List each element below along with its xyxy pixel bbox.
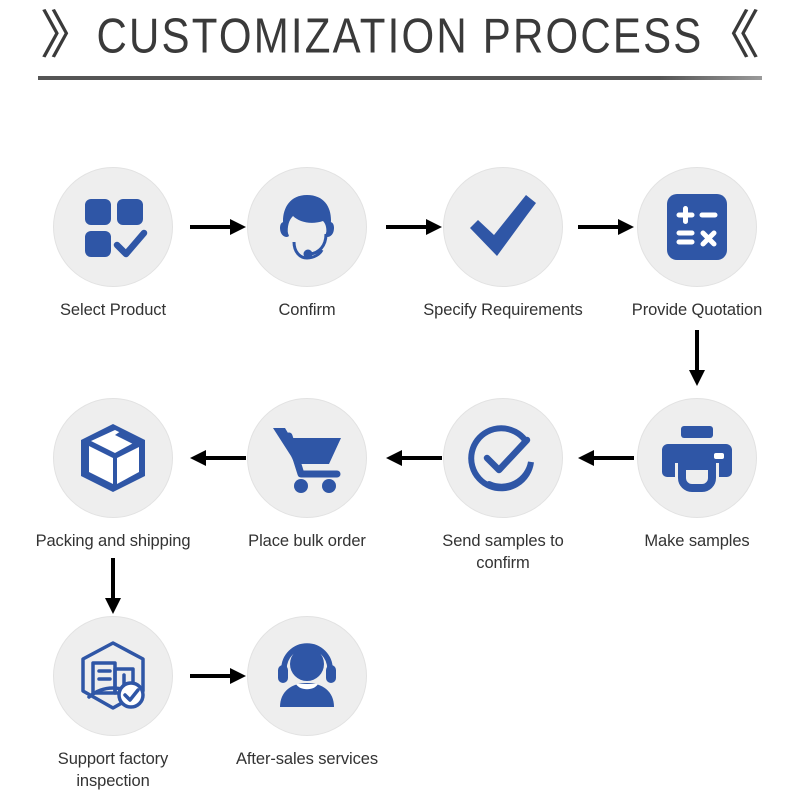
title-row: 》CUSTOMIZATION PROCESS《 — [0, 8, 800, 64]
step-label: After-sales services — [222, 748, 392, 770]
step-icon-bubble — [443, 398, 563, 518]
arrow-inspection-to-after-sales — [190, 667, 246, 685]
step-label: Make samples — [612, 530, 782, 552]
headphones-person-icon — [270, 641, 344, 711]
step-icon-bubble — [443, 167, 563, 287]
step-node-make-samples[interactable]: Make samples — [612, 398, 782, 552]
step-icon-bubble — [637, 167, 757, 287]
arrow-make-samples-to-send-samples — [578, 449, 634, 467]
step-icon-bubble — [247, 398, 367, 518]
step-label: Provide Quotation — [612, 299, 782, 321]
step-node-packing-and-shipping[interactable]: Packing and shipping — [28, 398, 198, 552]
step-label: Packing and shipping — [28, 530, 198, 552]
step-icon-bubble — [53, 167, 173, 287]
factory-inspection-icon — [75, 639, 151, 713]
step-node-place-bulk-order[interactable]: Place bulk order — [222, 398, 392, 552]
step-label: Support factory inspection — [28, 748, 198, 792]
page-header: 》CUSTOMIZATION PROCESS《 — [0, 0, 800, 92]
step-label: Send samples to confirm — [418, 530, 588, 574]
step-label: Confirm — [222, 299, 392, 321]
arrow-specify-to-quotation — [578, 218, 634, 236]
circle-check-icon — [465, 420, 541, 496]
page-title: CUSTOMIZATION PROCESS — [96, 3, 703, 69]
step-icon-bubble — [637, 398, 757, 518]
arrow-packing-to-inspection — [104, 558, 122, 614]
title-divider — [38, 76, 762, 80]
step-node-send-samples-to-confirm[interactable]: Send samples to confirm — [418, 398, 588, 574]
chevron-left-decoration: 》 — [41, 8, 101, 64]
step-node-support-factory-inspection[interactable]: Support factory inspection — [28, 616, 198, 792]
shopping-cart-icon — [269, 422, 345, 494]
step-icon-bubble — [53, 616, 173, 736]
chevron-right-decoration: 《 — [700, 8, 760, 64]
step-label: Select Product — [28, 299, 198, 321]
step-node-after-sales-services[interactable]: After-sales services — [222, 616, 392, 770]
step-label: Specify Requirements — [418, 299, 588, 321]
step-label: Place bulk order — [222, 530, 392, 552]
arrow-select-to-confirm — [190, 218, 246, 236]
arrow-confirm-to-specify — [386, 218, 442, 236]
step-icon-bubble — [247, 616, 367, 736]
arrow-send-samples-to-bulk-order — [386, 449, 442, 467]
headset-agent-icon — [270, 190, 344, 264]
arrow-quotation-to-make-samples — [688, 330, 706, 386]
calculator-icon — [664, 191, 730, 263]
checkmark-icon — [464, 188, 542, 266]
step-node-specify-requirements[interactable]: Specify Requirements — [418, 167, 588, 321]
step-node-select-product[interactable]: Select Product — [28, 167, 198, 321]
step-icon-bubble — [247, 167, 367, 287]
package-box-icon — [75, 420, 151, 496]
step-node-provide-quotation[interactable]: Provide Quotation — [612, 167, 782, 321]
printer-icon — [660, 424, 734, 492]
step-icon-bubble — [53, 398, 173, 518]
arrow-bulk-order-to-packing — [190, 449, 246, 467]
step-node-confirm[interactable]: Confirm — [222, 167, 392, 321]
grid-check-icon — [77, 191, 149, 263]
